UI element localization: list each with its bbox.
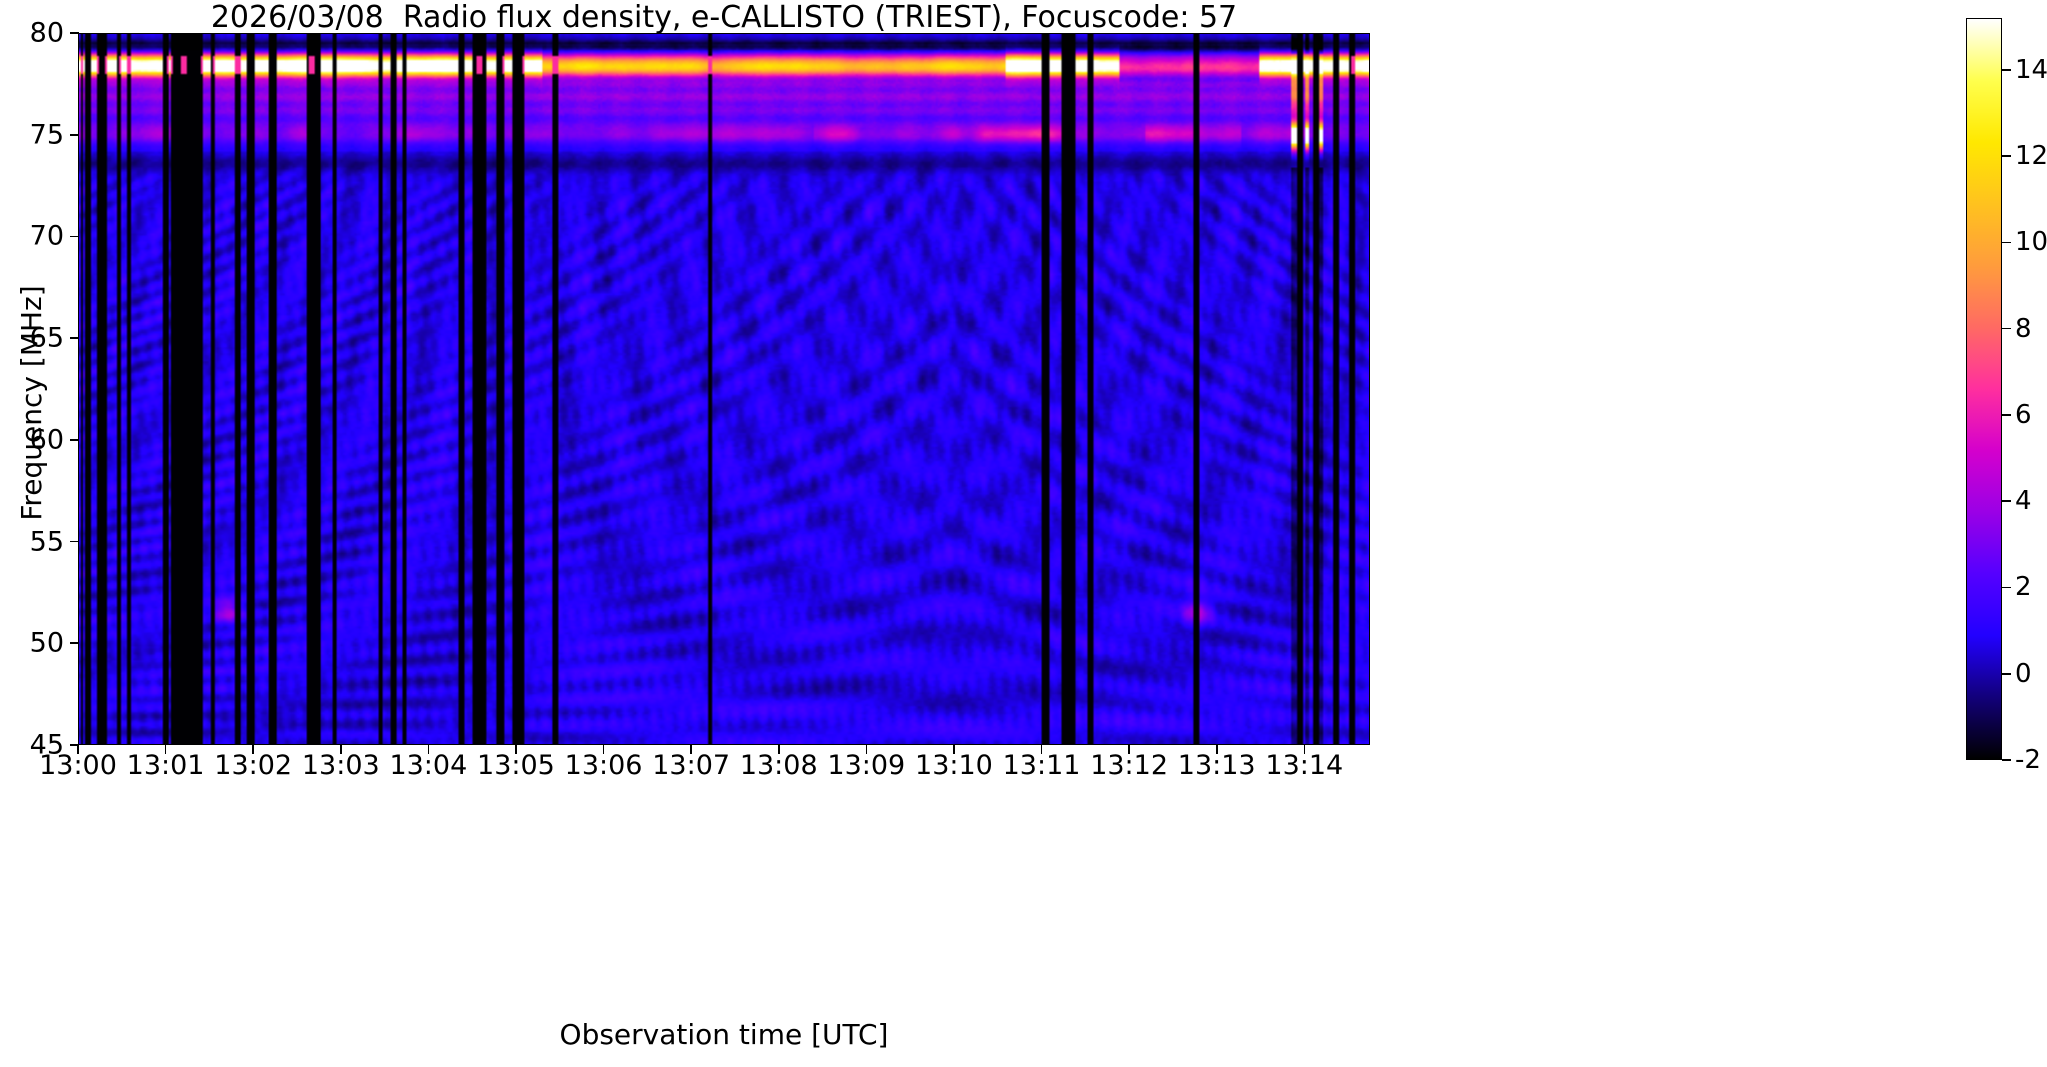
x-tick-label: 13:14 — [1265, 752, 1343, 779]
colorbar-tick-mark — [2002, 328, 2011, 330]
colorbar-tick-label: 8 — [2015, 316, 2032, 342]
colorbar-tick-mark — [2002, 155, 2011, 157]
y-tick-mark — [70, 642, 79, 644]
colorbar-tick-mark — [2002, 587, 2011, 589]
x-tick-label: 13:09 — [827, 752, 905, 779]
y-axis-label: Frequency [MHz] — [18, 203, 46, 603]
page-title: 2026/03/08 Radio flux density, e-CALLIST… — [78, 2, 1370, 34]
colorbar-tick-label: 12 — [2015, 143, 2047, 169]
x-tick-label: 13:02 — [214, 752, 292, 779]
x-tick-label: 13:13 — [1178, 752, 1256, 779]
y-tick-mark — [70, 337, 79, 339]
x-tick-label: 13:01 — [127, 752, 205, 779]
x-axis-label: Observation time [UTC] — [78, 1020, 1370, 1050]
colorbar-axes[interactable] — [1966, 18, 2002, 760]
spectrogram-canvas — [79, 34, 1369, 744]
y-tick-mark — [70, 32, 79, 34]
colorbar-tick-mark — [2002, 414, 2011, 416]
colorbar-gradient — [1967, 19, 2001, 759]
colorbar-tick-mark — [2002, 500, 2011, 502]
colorbar-tick-label: 2 — [2015, 574, 2032, 600]
spectrogram-image — [79, 34, 1369, 744]
colorbar-tick-label: 10 — [2015, 229, 2047, 255]
y-tick-mark — [70, 439, 79, 441]
x-tick-label: 13:05 — [477, 752, 555, 779]
x-tick-label: 13:07 — [652, 752, 730, 779]
colorbar-tick-label: 0 — [2015, 661, 2032, 687]
y-tick-label: 50 — [0, 630, 64, 657]
y-tick-label: 80 — [0, 20, 64, 47]
y-tick-mark — [70, 134, 79, 136]
colorbar-tick-label: 4 — [2015, 488, 2032, 514]
x-tick-label: 13:08 — [740, 752, 818, 779]
x-tick-label: 13:11 — [1003, 752, 1081, 779]
colorbar-tick-label: 14 — [2015, 57, 2047, 83]
x-tick-label: 13:04 — [389, 752, 467, 779]
spectrogram-axes[interactable] — [78, 33, 1370, 745]
x-tick-label: 13:03 — [302, 752, 380, 779]
colorbar-tick-mark — [2002, 69, 2011, 71]
x-tick-label: 13:06 — [565, 752, 643, 779]
figure-canvas: 2026/03/08 Radio flux density, e-CALLIST… — [0, 0, 2047, 1067]
x-tick-label: 13:12 — [1090, 752, 1168, 779]
y-tick-mark — [70, 236, 79, 238]
colorbar-tick-mark — [2002, 759, 2011, 761]
colorbar-tick-mark — [2002, 673, 2011, 675]
colorbar-tick-mark — [2002, 242, 2011, 244]
y-tick-label: 75 — [0, 121, 64, 148]
y-tick-mark — [70, 541, 79, 543]
colorbar-tick-label: -2 — [2015, 747, 2041, 773]
x-tick-label: 13:10 — [915, 752, 993, 779]
colorbar-tick-label: 6 — [2015, 402, 2032, 428]
x-tick-label: 13:00 — [39, 752, 117, 779]
